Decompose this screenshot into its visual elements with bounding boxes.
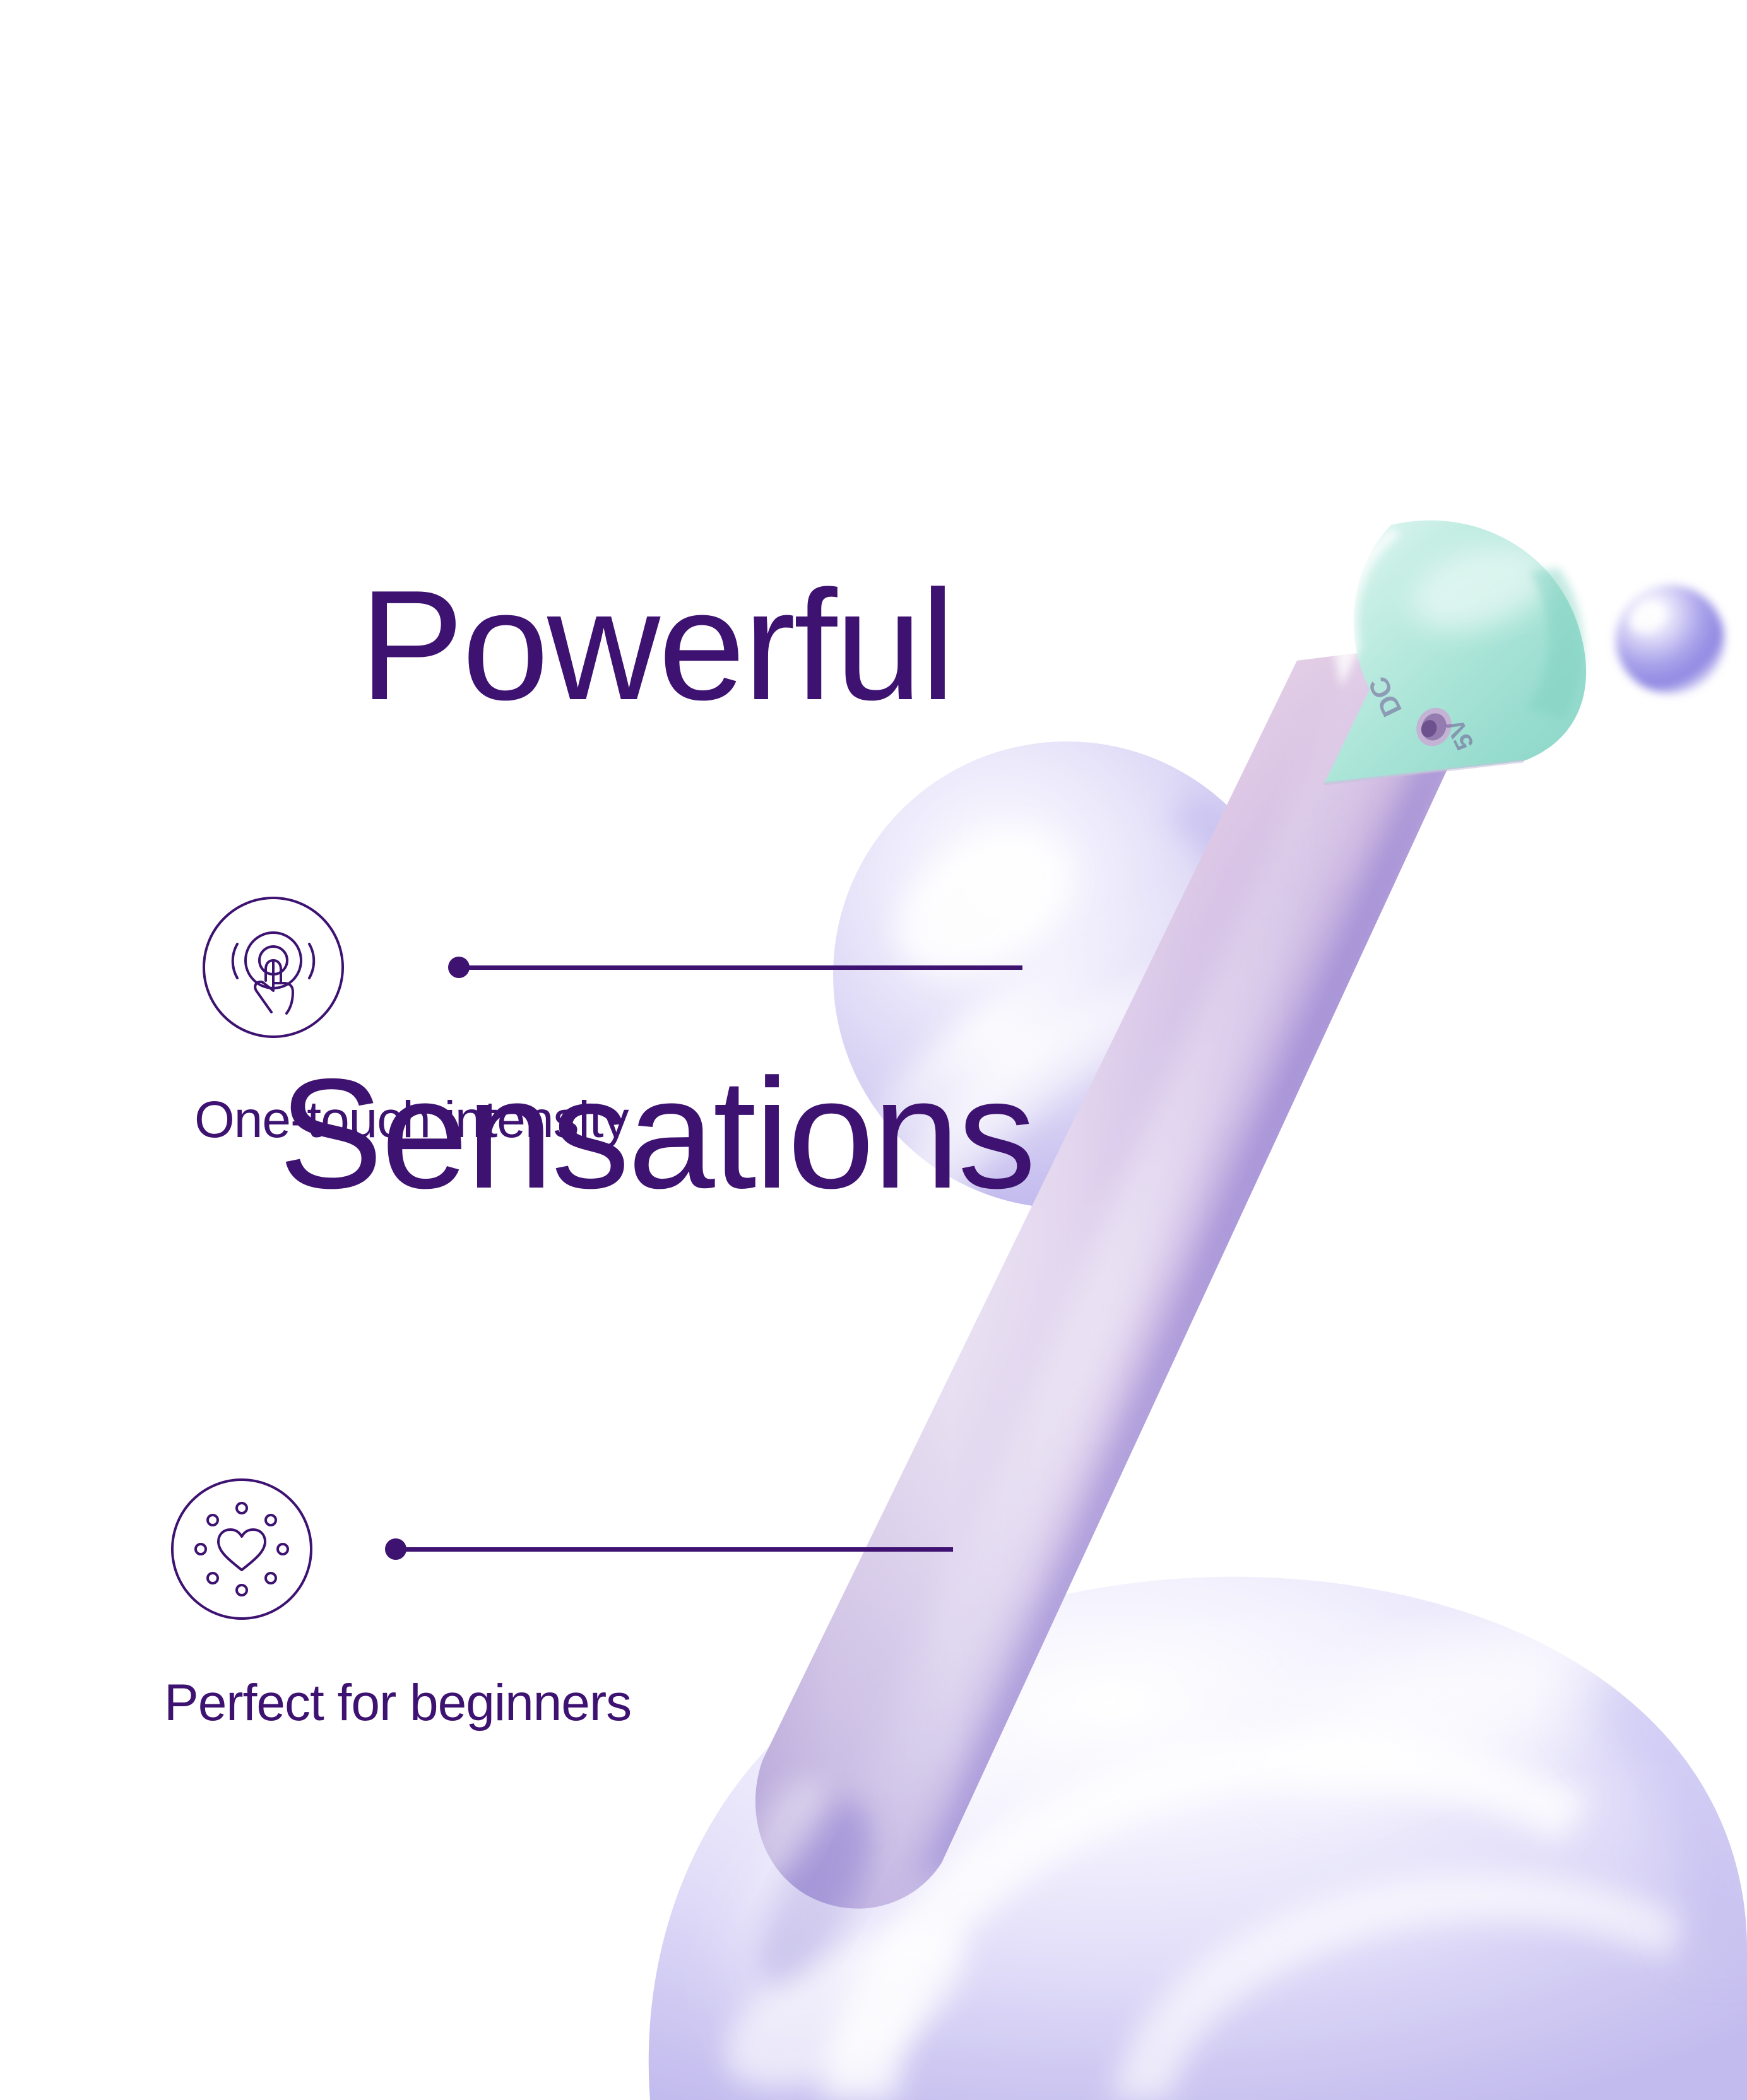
connector-rule [463, 965, 1022, 970]
headline-line-1: Powerful [0, 564, 1313, 727]
page-title: Powerful Sensations [0, 239, 1313, 1540]
feature-label: Perfect for beginners [164, 1673, 631, 1733]
connector-rule [400, 1547, 953, 1552]
feature-connector-line [385, 1524, 953, 1574]
product-feature-banner: DC 5V Powerful Sensations [0, 0, 1747, 2100]
accent-bead [1616, 585, 1724, 693]
heart-sparkle-icon [169, 1477, 314, 1622]
feature-connector-line [448, 942, 1022, 993]
tap-touch-ripple-icon [201, 895, 346, 1040]
feature-label: One-touch intensity [194, 1090, 629, 1150]
